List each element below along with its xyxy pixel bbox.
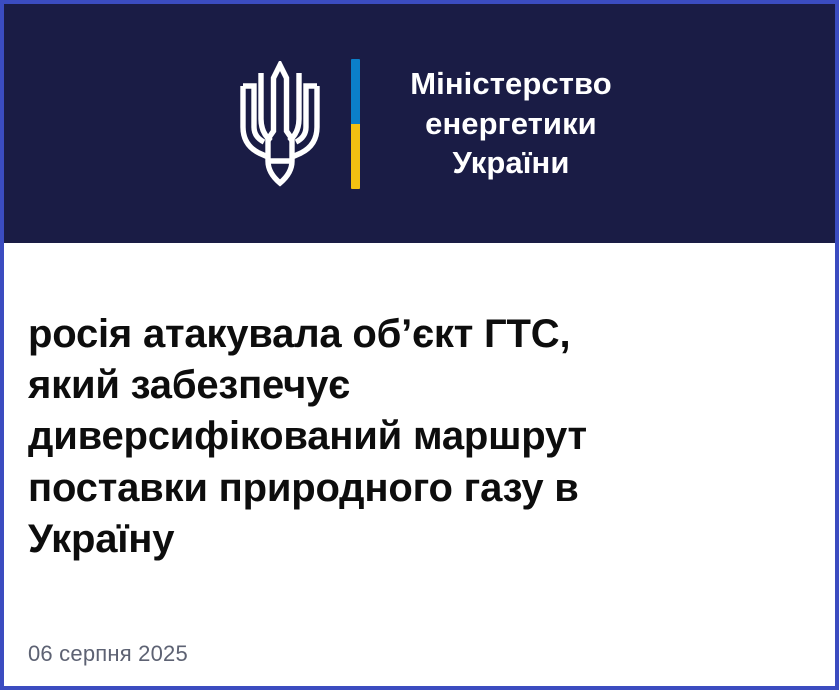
headline-text: росія атакувала об’єкт ГТС, який забезпе… [28, 309, 801, 565]
publication-date: 06 серпня 2025 [28, 641, 188, 667]
news-card: Міністерство енергетики України росія ат… [0, 0, 839, 690]
ministry-header-band: Міністерство енергетики України [4, 4, 835, 243]
news-body: росія атакувала об’єкт ГТС, який забезпе… [4, 243, 835, 686]
ukraine-trident-emblem [237, 61, 323, 187]
ukraine-flag-divider-bar [351, 59, 360, 189]
ministry-name: Міністерство енергетики України [410, 64, 612, 183]
brand-lockup: Міністерство енергетики України [237, 59, 612, 189]
